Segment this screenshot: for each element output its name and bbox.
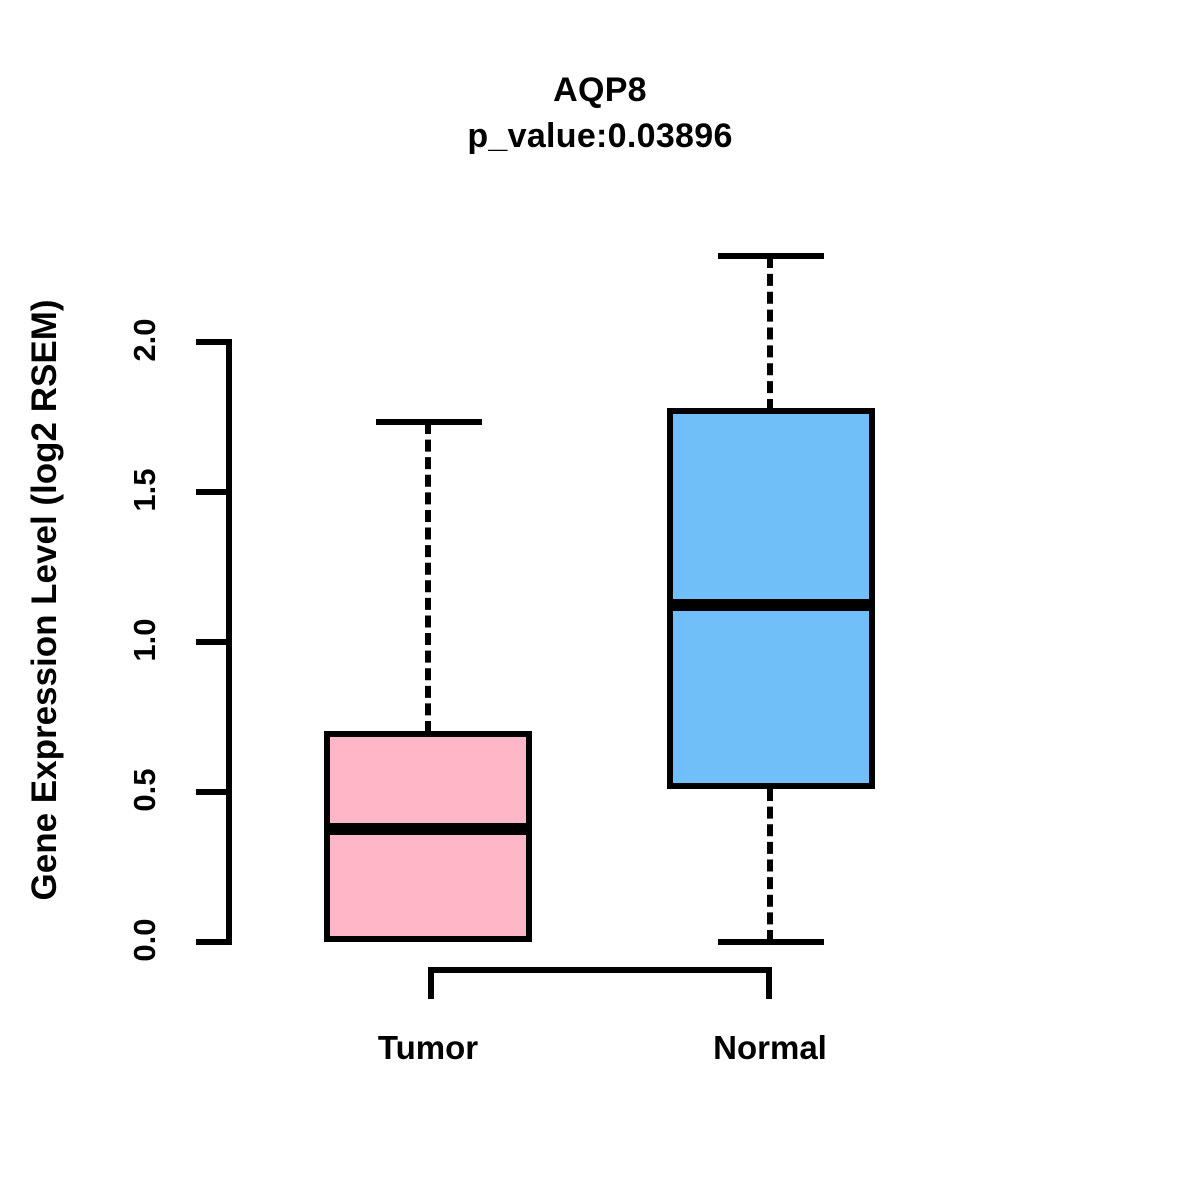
y-axis-tick-1.0 [196,639,230,645]
normal-lower-whisker-cap [718,939,824,945]
y-axis-tick-2.0 [196,339,230,345]
tumor-upper-whisker-cap [376,419,482,425]
y-axis-tick-0.0 [196,939,230,945]
normal-upper-whisker [767,256,773,411]
y-axis-label-0.5: 0.5 [127,745,163,835]
boxplot-figure: AQP8 p_value:0.03896 Gene Expression Lev… [0,0,1200,1200]
tumor-upper-whisker [425,422,431,733]
normal-lower-whisker [767,789,773,942]
tumor-box [324,731,532,942]
y-axis-label-0.0: 0.0 [127,895,163,985]
y-axis-label-2.0: 2.0 [127,295,163,385]
plot-area: 2.0 1.5 1.0 0.5 0.0 Tumor Normal [0,0,1200,1200]
x-axis-label-tumor: Tumor [278,1029,578,1067]
y-axis-tick-0.5 [196,789,230,795]
x-axis-label-normal: Normal [620,1029,920,1067]
x-axis-tick-tumor [428,967,434,999]
y-axis-label-1.0: 1.0 [127,595,163,685]
x-axis-tick-normal [766,967,772,999]
normal-median-line [667,599,875,611]
normal-upper-whisker-cap [718,253,824,259]
y-axis-tick-1.5 [196,489,230,495]
tumor-median-line [324,823,532,835]
y-axis-label-1.5: 1.5 [127,445,163,535]
x-axis-line [428,967,772,973]
